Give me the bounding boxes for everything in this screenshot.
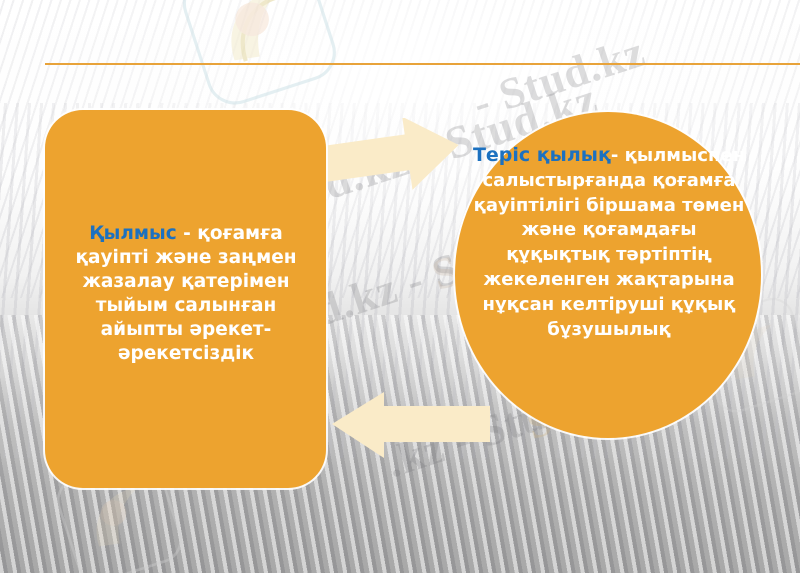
- definition-card-crime-title: Қылмыс: [89, 223, 176, 244]
- definition-card-crime-separator: -: [177, 223, 198, 244]
- definition-card-misdemeanor-separator: -: [611, 145, 618, 166]
- definition-card-misdemeanor-body: қылмыспен салыстырғанда қоғамға қауіптіл…: [474, 145, 745, 340]
- definition-card-misdemeanor-text: Теріс қылық- қылмыспен салыстырғанда қоғ…: [468, 142, 750, 343]
- definition-card-misdemeanor-title: Теріс қылық: [473, 144, 611, 166]
- definition-card-crime-body: қоғамға қауіпті және заңмен жазалау қате…: [75, 223, 296, 364]
- header-divider: [45, 63, 800, 65]
- slide-canvas: Stud.kz - Stud.kz - Stud.kz Stud.kz - St…: [0, 0, 800, 573]
- definition-card-crime-text: Қылмыс - қоғамға қауіпті және заңмен жаз…: [55, 222, 317, 366]
